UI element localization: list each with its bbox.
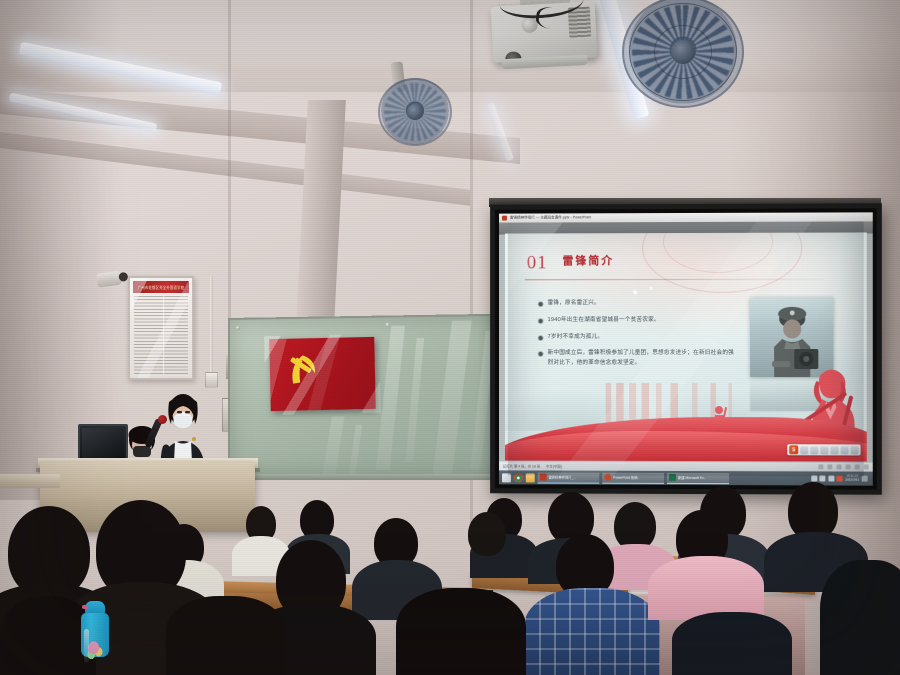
bullet-text: 1940年出生在湖南省望城县一个贫苦农家。 [548,316,660,326]
dove-decoration-icon [627,285,667,297]
ppt-file-icon [540,474,547,481]
notice-board: 广州市花都区秀全外国语学校 [128,276,194,380]
water-bottle [81,601,109,657]
list-item: 7岁时不幸成为孤儿。 [539,333,738,343]
audience-plaid-shirt [524,588,660,675]
ime-toolbox-icon[interactable] [841,446,849,454]
zoom-in-icon[interactable] [864,465,869,470]
fan-hub [671,40,695,64]
audience-head [468,512,506,556]
ime-toolbar[interactable]: S [787,444,860,455]
bullet-dot-icon [539,336,543,340]
taskbar-item[interactable]: 新建 Microsoft Ex... [667,472,729,483]
projection-screen[interactable]: 雷锋精神伴我行 — 主题班会课件.pptx - PowerPoint 01 雷锋… [490,203,882,494]
excel-icon [669,474,676,481]
view-controls[interactable] [818,464,868,469]
party-flag [269,337,375,411]
taskbar-clock[interactable]: 15:11:25 2022/3/31 [845,475,859,483]
file-explorer-icon[interactable] [526,473,535,482]
fan-hub [407,104,423,120]
fan-blades [632,5,735,99]
taskbar-item-label: PowerPoint 放映... [613,475,640,480]
list-item: 1940年出生在湖南省望城县一个贫苦农家。 [539,316,738,326]
bullet-text: 7岁时不幸成为孤儿。 [548,333,604,343]
projected-desktop[interactable]: 雷锋精神伴我行 — 主题班会课件.pptx - PowerPoint 01 雷锋… [499,212,873,485]
taskbar-item[interactable]: PowerPoint 放映... [602,472,664,483]
volume-icon[interactable] [828,475,834,481]
monitor-screen [82,428,124,458]
bullet-text: 雷锋，原名雷正兴。 [548,299,600,309]
microphone-head [158,415,167,424]
ime-voice-icon[interactable] [810,446,818,454]
wall-junction-box [205,372,218,388]
ime-emoji-icon[interactable] [820,446,828,454]
notice-board-glass-glare [130,278,192,378]
slide-section-number: 01 [527,253,548,272]
window-title: 雷锋精神伴我行 — 主题班会课件.pptx - PowerPoint [510,215,591,220]
bullet-dot-icon [539,319,543,323]
bullet-text: 新中国成立后，雷锋积极参加了儿童团，思想愈发进步；在新旧社会的强烈对比下，他的革… [548,349,738,369]
reading-view-icon[interactable] [836,464,841,469]
taskbar-item[interactable]: 雷锋精神伴我行_... [538,472,600,483]
clock-date: 2022/3/31 [845,478,859,482]
taskbar-item-label: 雷锋精神伴我行_... [549,475,576,480]
start-button-icon[interactable] [502,473,511,482]
chalkboard-screw [236,326,240,330]
audience-head [614,502,656,550]
ime-skin-icon[interactable] [830,446,838,454]
bullet-dot-icon [539,352,543,356]
sorter-view-icon[interactable] [827,464,832,469]
language-indicator[interactable]: 中文(中国) [546,464,562,469]
chalkboard-screw [386,323,390,327]
slide-canvas[interactable]: 01 雷锋简介 雷锋，原名雷正兴。 1940年出生在湖南省望城县一个贫苦农家。 … [505,232,867,461]
audience-head [820,560,900,675]
taskbar-item-label: 新建 Microsoft Ex... [678,475,706,480]
ime-more-icon[interactable] [851,446,859,454]
list-item: 雷锋，原名雷正兴。 [539,299,738,309]
system-tray[interactable]: 15:11:25 2022/3/31 [811,475,870,483]
projector-lens [505,51,522,66]
chalk-tray [228,474,514,480]
wall-fan-large [622,0,744,108]
audience-head [396,588,526,675]
sogou-logo-icon[interactable]: S [789,445,798,454]
audience-head [166,596,286,675]
slide-title: 雷锋简介 [562,256,614,267]
list-item: 新中国成立后，雷锋积极参加了儿童团，思想愈发进步；在新旧社会的强烈对比下，他的革… [539,349,738,369]
bottle-highlight [84,629,89,663]
show-desktop-icon[interactable] [862,476,868,482]
wall-fan-small [378,78,452,146]
side-desk [0,474,60,488]
normal-view-icon[interactable] [818,464,823,469]
audience-head [672,612,792,675]
classroom-photo: 广州市花都区秀全外国语学校 [0,0,900,675]
flag-plastic-cover [264,334,381,415]
audience-pink-hoodie [648,556,764,620]
bottle-body [81,613,109,657]
chrome-icon[interactable] [514,473,523,482]
ime-language-icon[interactable] [800,446,808,454]
ime-tray-icon[interactable] [837,475,843,481]
slideshow-icon[interactable] [846,464,851,469]
network-icon[interactable] [820,475,826,481]
zoom-out-icon[interactable] [855,464,860,469]
powerpoint-icon [604,474,611,481]
bullet-dot-icon [539,302,543,306]
slide-counter: 幻灯片 第 4 张，共 18 张 [503,463,540,468]
slide-bullet-list: 雷锋，原名雷正兴。 1940年出生在湖南省望城县一个贫苦农家。 7岁时不幸成为孤… [539,299,738,376]
powerpoint-icon [502,216,507,221]
tray-expand-icon[interactable] [811,475,817,481]
